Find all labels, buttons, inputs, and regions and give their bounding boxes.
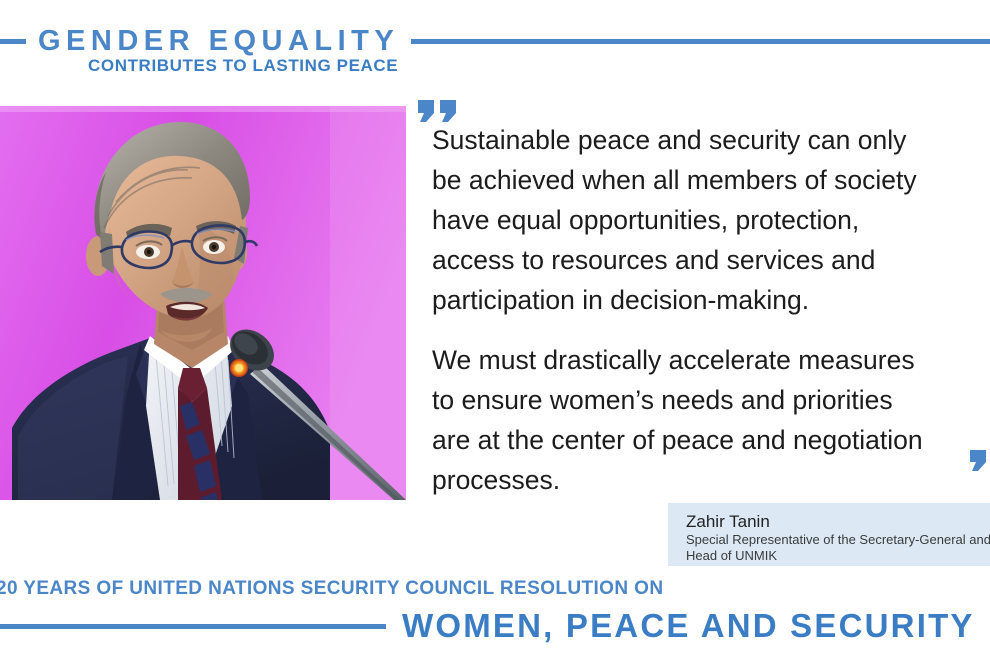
footer-tagline: 20 YEARS OF UNITED NATIONS SECURITY COUN… <box>0 578 663 600</box>
quote-paragraph-2: We must drastically accelerate measures … <box>432 340 990 500</box>
page-subtitle: CONTRIBUTES TO LASTING PEACE <box>88 56 398 76</box>
header-rule-left <box>0 39 26 44</box>
quote-text-block: Sustainable peace and security can only … <box>432 120 990 500</box>
quote-paragraph-1: Sustainable peace and security can only … <box>432 120 990 320</box>
footer-rule-left <box>0 624 386 629</box>
poster-canvas: GENDER EQUALITY CONTRIBUTES TO LASTING P… <box>0 0 990 660</box>
footer-title-row: WOMEN, PEACE AND SECURITY <box>0 603 990 649</box>
footer-title: WOMEN, PEACE AND SECURITY <box>386 603 990 649</box>
header-rule-right <box>411 39 990 44</box>
speaker-photo <box>0 106 406 500</box>
attribution-box: Zahir Tanin Special Representative of th… <box>668 503 990 566</box>
speaker-role: Special Representative of the Secretary-… <box>686 532 990 564</box>
header-title-row: GENDER EQUALITY <box>0 26 990 56</box>
page-title: GENDER EQUALITY <box>26 26 411 56</box>
quote-close-icon <box>968 450 990 474</box>
speaker-name: Zahir Tanin <box>686 511 990 532</box>
